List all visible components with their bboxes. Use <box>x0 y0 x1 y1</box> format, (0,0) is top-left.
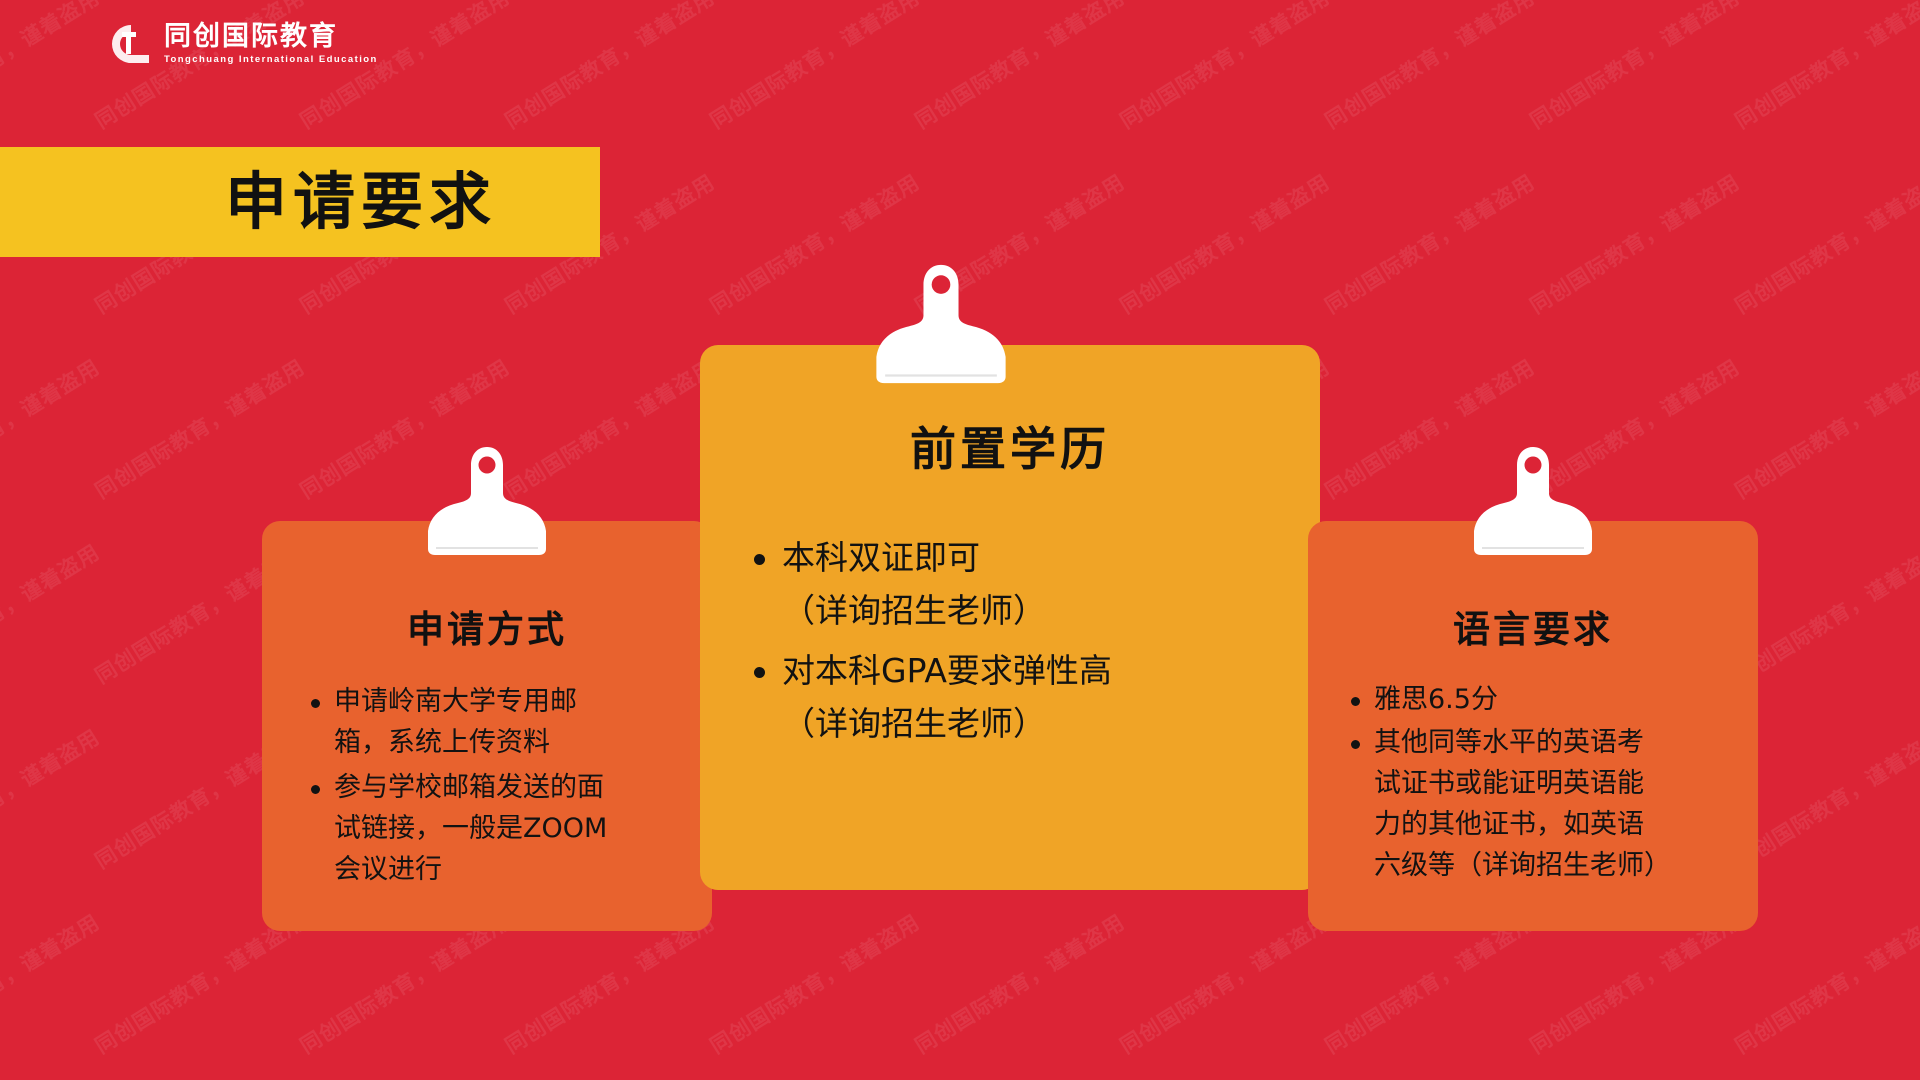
slide-canvas: 同创国际教育，谨着盗用同创国际教育，谨着盗用同创国际教育，谨着盗用同创国际教育，… <box>0 0 1920 1080</box>
bullet-line: 申请岭南大学专用邮 <box>334 686 577 717</box>
watermark-text: 同创国际教育，谨着盗用 <box>1525 22 1684 136</box>
list-item: 参与学校邮箱发送的面 试链接，一般是ZOOM 会议进行 <box>306 767 694 890</box>
card-application-method[interactable]: 申请方式 申请岭南大学专用邮 箱，系统上传资料 参与学校邮箱发送的面 试链接，一… <box>262 521 712 931</box>
bullet-line: 对本科GPA要求弹性高 <box>782 651 1112 690</box>
bullet-line: 力的其他证书，如英语 <box>1374 809 1644 840</box>
bullet-line: 会议进行 <box>334 854 442 885</box>
clipboard-clip-icon-left <box>424 445 550 562</box>
watermark-text: 同创国际教育，谨着盗用 <box>705 22 864 136</box>
watermark-text: 同创国际教育，谨着盗用 <box>0 947 45 1061</box>
card-title-prior-education: 前置学历 <box>700 413 1320 479</box>
bullet-line: （详询招生老师） <box>782 591 1046 630</box>
watermark-text: 同创国际教育，谨着盗用 <box>1730 207 1889 321</box>
bullet-dot-icon <box>1351 740 1360 749</box>
watermark-text: 同创国际教育，谨着盗用 <box>0 22 45 136</box>
page-title: 申请要求 <box>225 171 497 233</box>
card-prior-education[interactable]: 前置学历 本科双证即可 （详询招生老师） 对本科GPA要求弹性高 （详询招生老师… <box>700 345 1320 890</box>
card-title-language-requirement: 语言要求 <box>1308 599 1758 653</box>
watermark-text: 同创国际教育，谨着盗用 <box>90 392 249 506</box>
watermark-text: 同创国际教育，谨着盗用 <box>705 207 864 321</box>
watermark-text: 同创国际教育，谨着盗用 <box>295 947 454 1061</box>
bullet-line: 箱，系统上传资料 <box>334 727 550 758</box>
watermark-text: 同创国际教育，谨着盗用 <box>1525 947 1684 1061</box>
bullet-line: 雅思6.5分 <box>1374 684 1498 715</box>
list-item: 本科双证即可 （详询招生老师） <box>748 531 1294 638</box>
logo-name-en: Tongchuang International Education <box>164 55 378 65</box>
watermark-text: 同创国际教育，谨着盗用 <box>705 947 864 1061</box>
watermark-text: 同创国际教育，谨着盗用 <box>500 22 659 136</box>
bullet-list-application-method: 申请岭南大学专用邮 箱，系统上传资料 参与学校邮箱发送的面 试链接，一般是ZOO… <box>262 681 712 890</box>
bullet-dot-icon <box>1351 697 1360 706</box>
bullet-dot-icon <box>311 699 320 708</box>
watermark-text: 同创国际教育，谨着盗用 <box>1525 207 1684 321</box>
clipboard-clip-icon-right <box>1470 445 1596 562</box>
bullet-line: 六级等（详询招生老师） <box>1374 850 1671 881</box>
list-item: 对本科GPA要求弹性高 （详询招生老师） <box>748 644 1294 751</box>
logo-name-cn: 同创国际教育 <box>164 23 378 50</box>
card-language-requirement[interactable]: 语言要求 雅思6.5分 其他同等水平的英语考 试证书或能证明英语能 力的其他证书… <box>1308 521 1758 931</box>
tongchuang-logo-icon <box>105 20 153 68</box>
watermark-text: 同创国际教育，谨着盗用 <box>0 577 45 691</box>
watermark-text: 同创国际教育，谨着盗用 <box>1115 207 1274 321</box>
watermark-text: 同创国际教育，谨着盗用 <box>90 577 249 691</box>
watermark-text: 同创国际教育，谨着盗用 <box>910 22 1069 136</box>
bullet-line: 试证书或能证明英语能 <box>1374 768 1644 799</box>
watermark-text: 同创国际教育，谨着盗用 <box>1320 207 1479 321</box>
bullet-dot-icon <box>754 667 765 678</box>
bullet-line: 参与学校邮箱发送的面 <box>334 772 604 803</box>
list-item: 申请岭南大学专用邮 箱，系统上传资料 <box>306 681 694 763</box>
bullet-dot-icon <box>754 554 765 565</box>
watermark-text: 同创国际教育，谨着盗用 <box>910 947 1069 1061</box>
watermark-text: 同创国际教育，谨着盗用 <box>1730 947 1889 1061</box>
watermark-text: 同创国际教育，谨着盗用 <box>90 947 249 1061</box>
watermark-text: 同创国际教育，谨着盗用 <box>1730 22 1889 136</box>
brand-logo: 同创国际教育 Tongchuang International Educatio… <box>105 20 378 68</box>
watermark-text: 同创国际教育，谨着盗用 <box>1320 22 1479 136</box>
bullet-line: 其他同等水平的英语考 <box>1374 727 1644 758</box>
bullet-line: 本科双证即可 <box>782 538 980 577</box>
watermark-text: 同创国际教育，谨着盗用 <box>1320 392 1479 506</box>
list-item: 雅思6.5分 <box>1346 679 1744 720</box>
watermark-text: 同创国际教育，谨着盗用 <box>1115 22 1274 136</box>
bullet-list-language-requirement: 雅思6.5分 其他同等水平的英语考 试证书或能证明英语能 力的其他证书，如英语 … <box>1308 679 1758 886</box>
card-title-application-method: 申请方式 <box>262 599 712 653</box>
watermark-text: 同创国际教育，谨着盗用 <box>1115 947 1274 1061</box>
watermark-text: 同创国际教育，谨着盗用 <box>1730 392 1889 506</box>
bullet-list-prior-education: 本科双证即可 （详询招生老师） 对本科GPA要求弹性高 （详询招生老师） <box>700 531 1320 751</box>
clipboard-clip-icon-center <box>872 262 1010 391</box>
watermark-text: 同创国际教育，谨着盗用 <box>1320 947 1479 1061</box>
watermark-text: 同创国际教育，谨着盗用 <box>90 762 249 876</box>
watermark-text: 同创国际教育，谨着盗用 <box>0 762 45 876</box>
watermark-text: 同创国际教育，谨着盗用 <box>500 947 659 1061</box>
bullet-line: 试链接，一般是ZOOM <box>334 813 607 844</box>
bullet-line: （详询招生老师） <box>782 704 1046 743</box>
list-item: 其他同等水平的英语考 试证书或能证明英语能 力的其他证书，如英语 六级等（详询招… <box>1346 722 1744 886</box>
watermark-text: 同创国际教育，谨着盗用 <box>0 392 45 506</box>
title-banner: 申请要求 <box>0 147 600 257</box>
bullet-dot-icon <box>311 785 320 794</box>
